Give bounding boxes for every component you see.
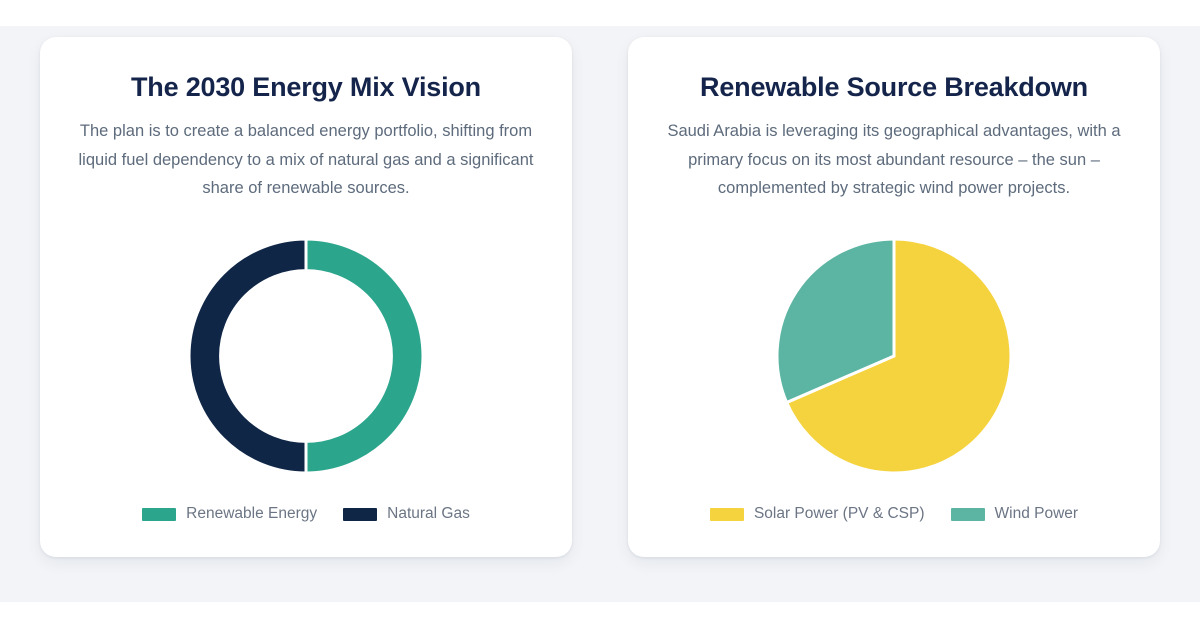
card-description-renewable-breakdown: Saudi Arabia is leveraging its geographi… xyxy=(664,117,1124,202)
legend-energy-mix: Renewable Energy Natural Gas xyxy=(142,505,470,539)
pie-slice[interactable] xyxy=(306,239,423,473)
legend-swatch-icon-solar-power xyxy=(710,508,744,521)
donut-chart-energy-mix[interactable] xyxy=(181,231,431,481)
legend-label-renewable-energy: Renewable Energy xyxy=(186,505,317,523)
legend-item-solar-power[interactable]: Solar Power (PV & CSP) xyxy=(710,505,925,523)
card-renewable-source-breakdown: Renewable Source Breakdown Saudi Arabia … xyxy=(628,37,1160,557)
page-title-energy-mix: The 2030 Energy Mix Vision xyxy=(131,71,481,103)
legend-swatch-icon-renewable-energy xyxy=(142,508,176,521)
card-energy-mix-vision: The 2030 Energy Mix Vision The plan is t… xyxy=(40,37,572,557)
legend-renewable-breakdown: Solar Power (PV & CSP) Wind Power xyxy=(710,505,1078,539)
legend-label-natural-gas: Natural Gas xyxy=(387,505,470,523)
chart-area-energy-mix xyxy=(70,203,542,505)
pie-slice[interactable] xyxy=(189,239,306,473)
chart-area-renewable-breakdown xyxy=(658,203,1130,505)
legend-item-renewable-energy[interactable]: Renewable Energy xyxy=(142,505,317,523)
page-title-renewable-breakdown: Renewable Source Breakdown xyxy=(700,71,1088,103)
legend-swatch-icon-wind-power xyxy=(951,508,985,521)
legend-label-solar-power: Solar Power (PV & CSP) xyxy=(754,505,925,523)
cards-row: The 2030 Energy Mix Vision The plan is t… xyxy=(40,37,1160,557)
card-description-energy-mix: The plan is to create a balanced energy … xyxy=(76,117,536,202)
legend-item-wind-power[interactable]: Wind Power xyxy=(951,505,1079,523)
legend-swatch-icon-natural-gas xyxy=(343,508,377,521)
page-frame: The 2030 Energy Mix Vision The plan is t… xyxy=(0,0,1200,628)
legend-item-natural-gas[interactable]: Natural Gas xyxy=(343,505,470,523)
pie-chart-renewable-breakdown[interactable] xyxy=(769,231,1019,481)
legend-label-wind-power: Wind Power xyxy=(995,505,1079,523)
